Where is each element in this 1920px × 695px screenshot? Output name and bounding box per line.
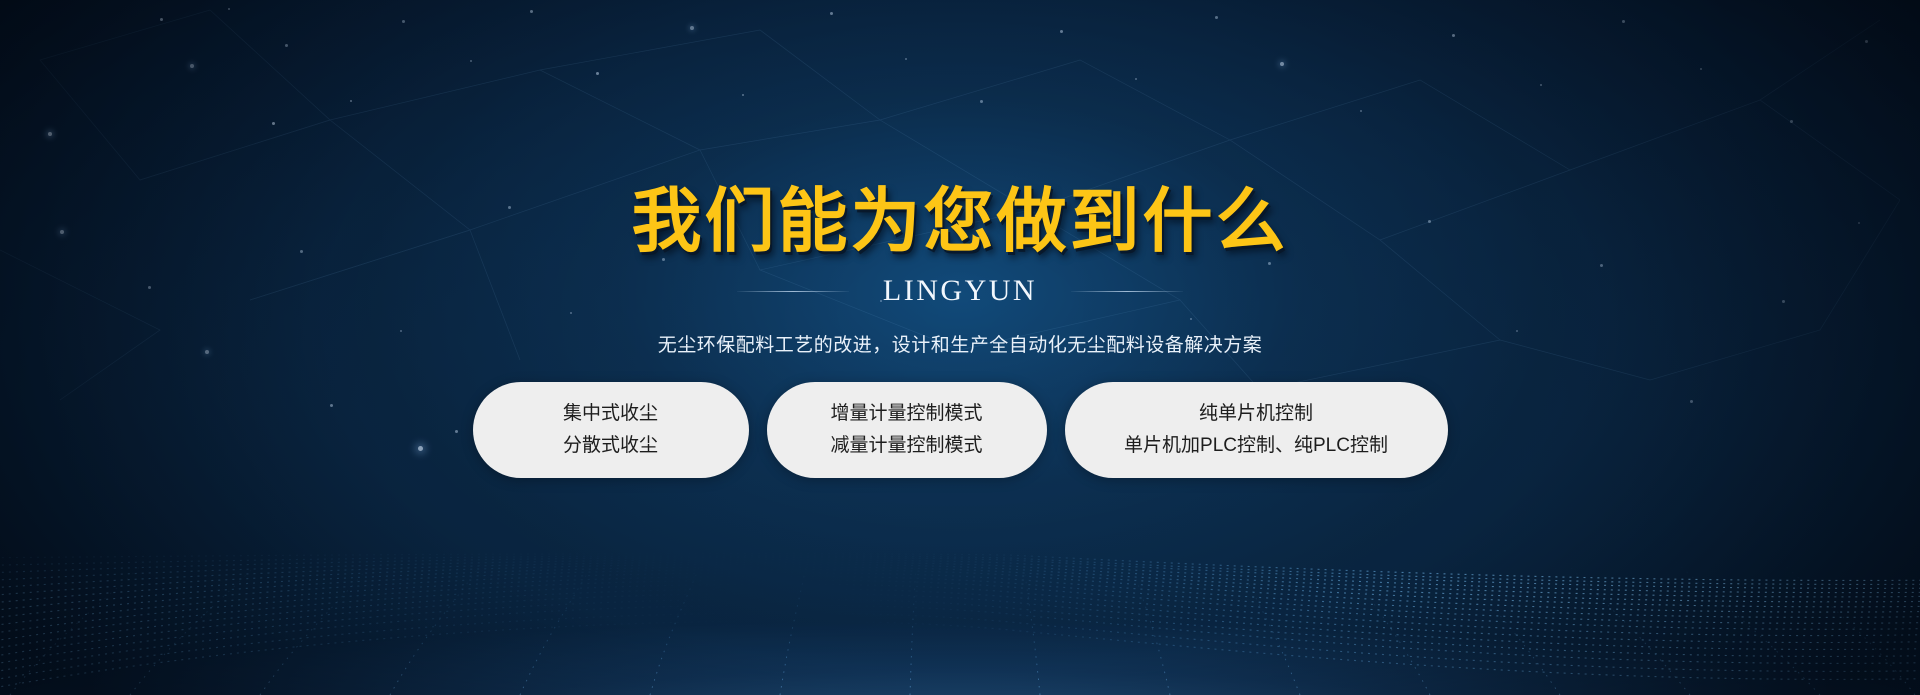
feature-pill-group: 集中式收尘 分散式收尘 增量计量控制模式 减量计量控制模式 纯单片机控制 单片机… xyxy=(473,382,1448,478)
brand-subtitle-row: LINGYUN xyxy=(737,274,1183,308)
feature-pill-dust-collection[interactable]: 集中式收尘 分散式收尘 xyxy=(473,382,749,478)
brand-latin-name: LINGYUN xyxy=(883,274,1037,308)
pill-line: 单片机加PLC控制、纯PLC控制 xyxy=(1124,435,1388,458)
hero-banner: 我们能为您做到什么 LINGYUN 无尘环保配料工艺的改进，设计和生产全自动化无… xyxy=(0,0,1920,695)
pill-line: 增量计量控制模式 xyxy=(830,403,982,426)
pill-line: 纯单片机控制 xyxy=(1199,403,1313,426)
feature-pill-controller-options[interactable]: 纯单片机控制 单片机加PLC控制、纯PLC控制 xyxy=(1065,382,1448,478)
page-title: 我们能为您做到什么 xyxy=(632,186,1289,256)
feature-pill-metering-control-mode[interactable]: 增量计量控制模式 减量计量控制模式 xyxy=(767,382,1047,478)
pill-line: 集中式收尘 xyxy=(563,403,658,426)
divider-right xyxy=(1071,291,1183,292)
divider-left xyxy=(737,291,849,292)
pill-line: 减量计量控制模式 xyxy=(830,435,982,458)
banner-description: 无尘环保配料工艺的改进，设计和生产全自动化无尘配料设备解决方案 xyxy=(658,330,1263,357)
banner-content: 我们能为您做到什么 LINGYUN 无尘环保配料工艺的改进，设计和生产全自动化无… xyxy=(0,0,1920,695)
pill-line: 分散式收尘 xyxy=(563,435,658,458)
